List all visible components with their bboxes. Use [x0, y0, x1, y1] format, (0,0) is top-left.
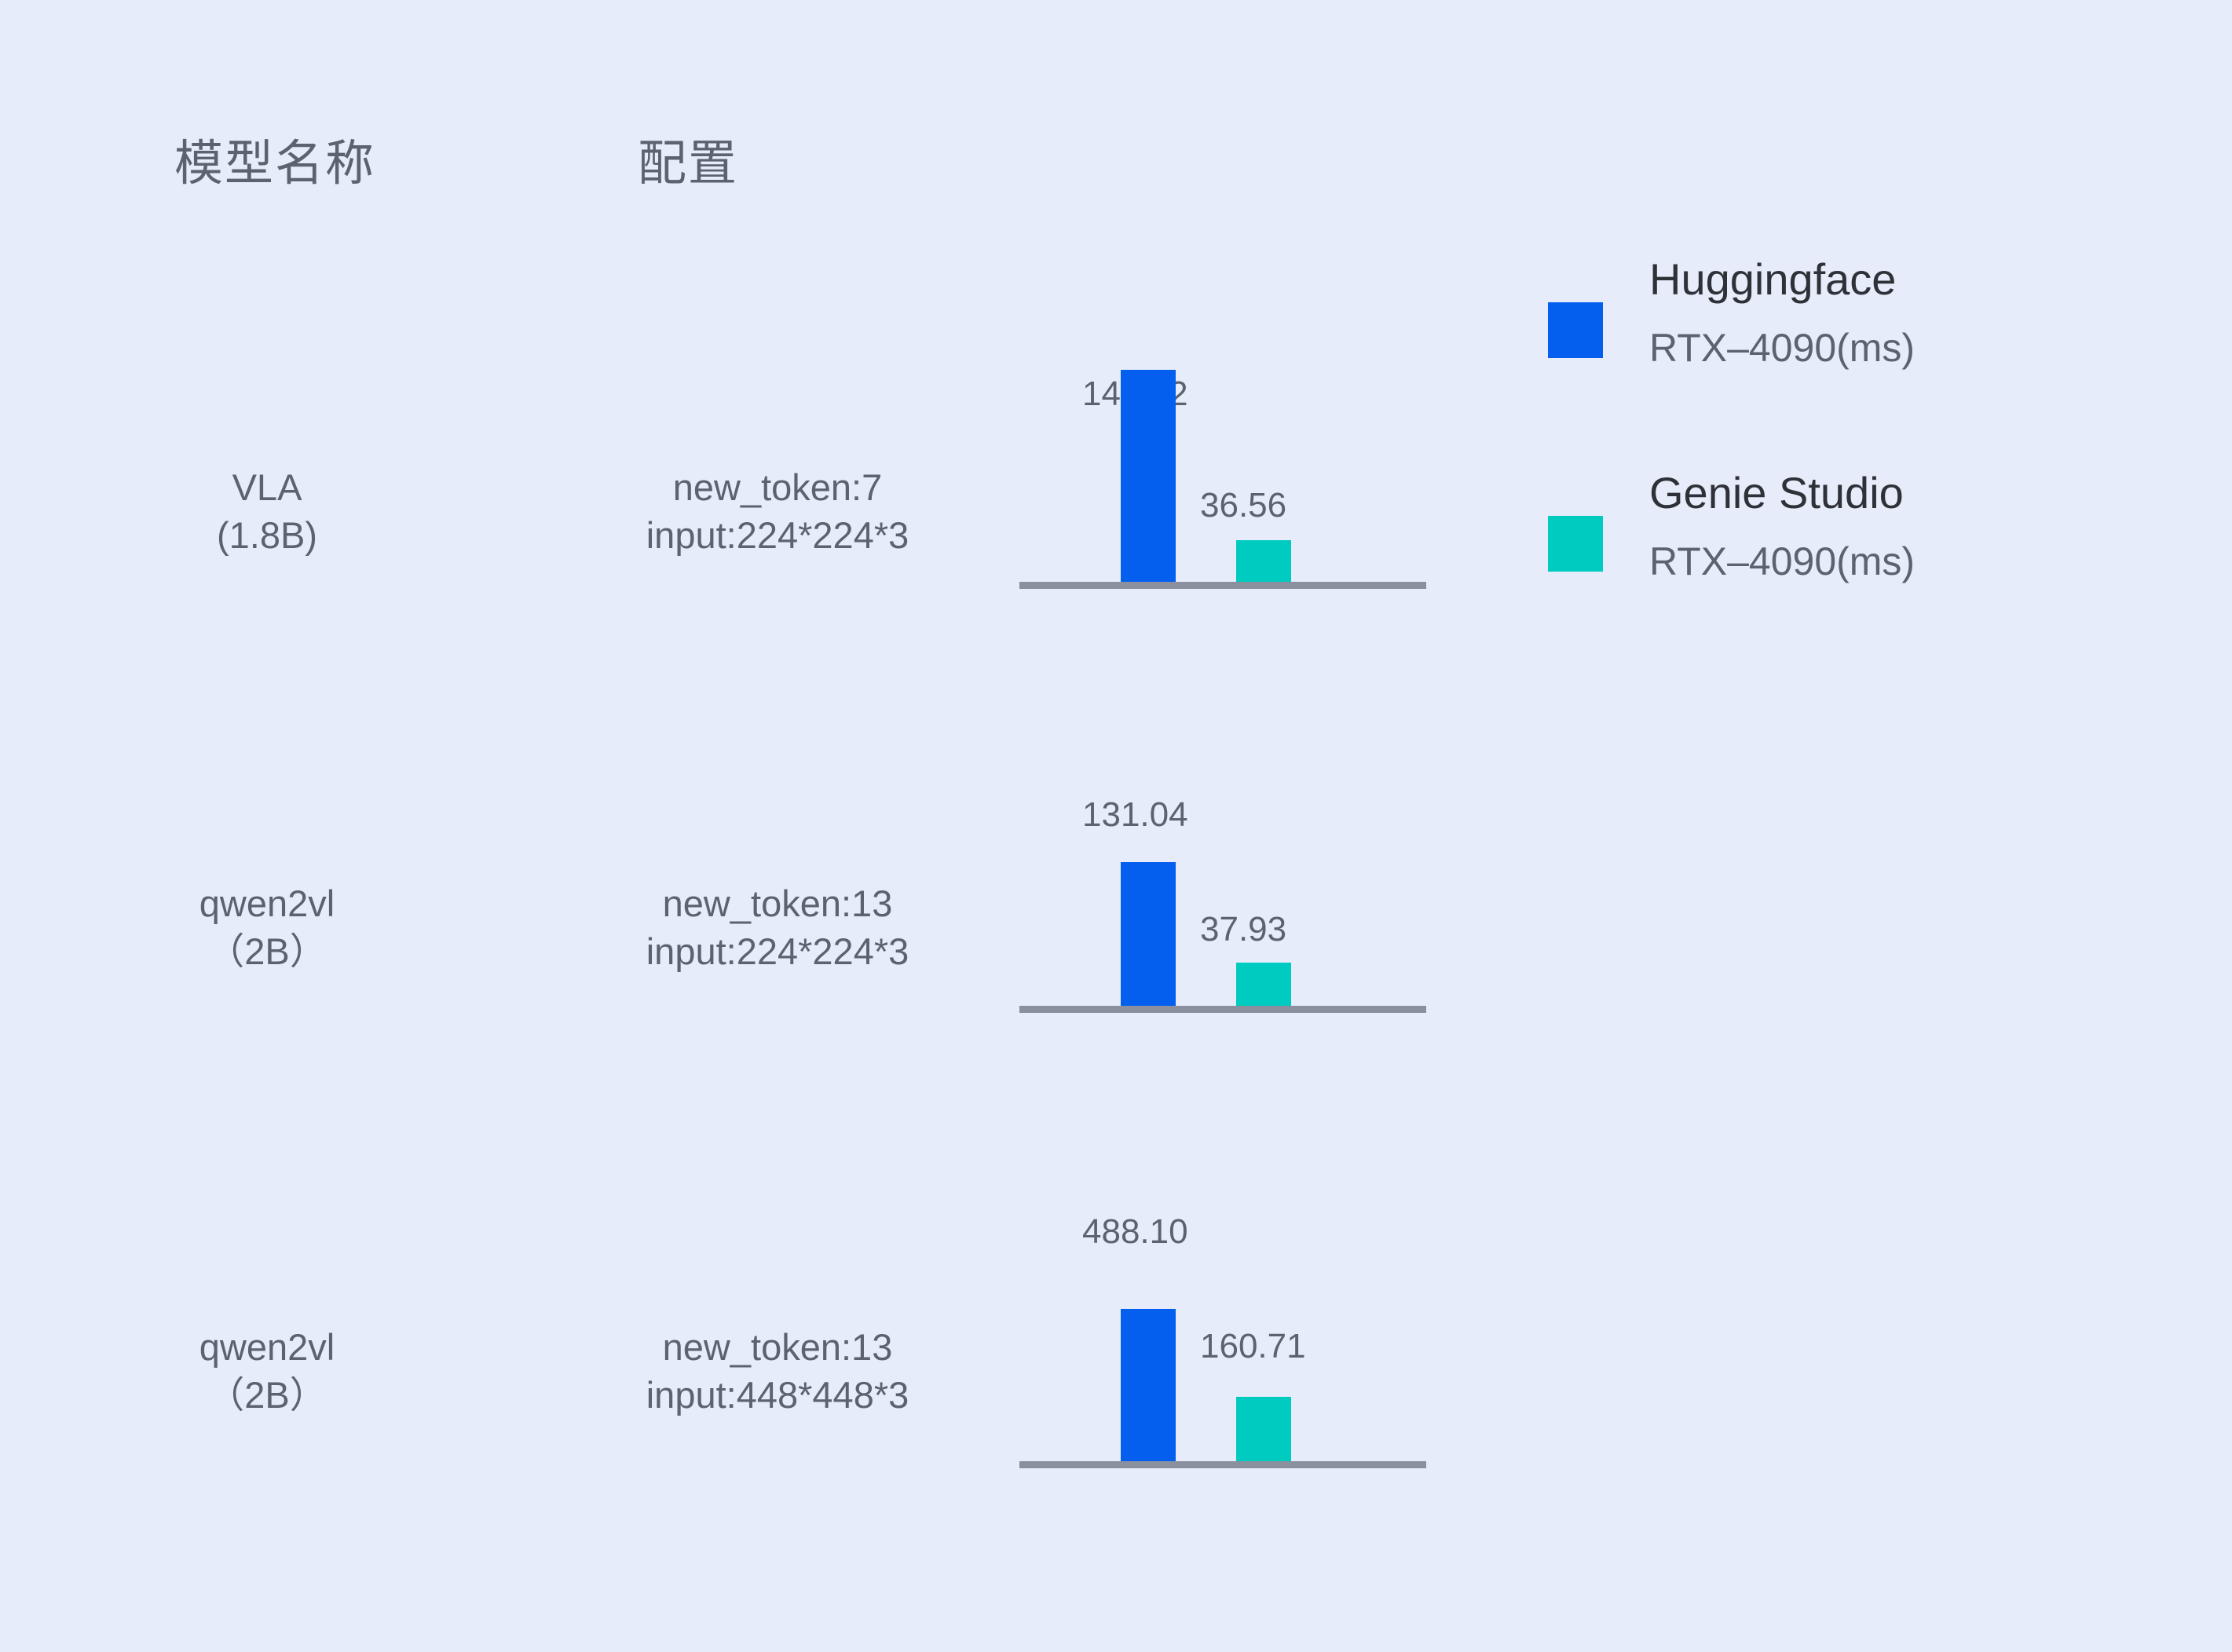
row-model-label-line1: VLA — [141, 463, 393, 511]
row-config-label-line1: new_token:13 — [487, 879, 1068, 927]
row-config-label-line2: input:224*224*3 — [487, 927, 1068, 975]
legend-item-name: Genie Studio — [1649, 471, 1904, 515]
row-config-label: new_token:13 input:224*224*3 — [487, 879, 1068, 975]
bar-value-huggingface: 131.04 — [1082, 798, 1188, 832]
row-config-label-line1: new_token:13 — [487, 1323, 1068, 1371]
bar-value-genie-studio: 36.56 — [1200, 488, 1286, 523]
row-config-label-line2: input:448*448*3 — [487, 1371, 1068, 1419]
row-model-label-line2: (1.8B) — [141, 511, 393, 559]
legend-item-subtitle: RTX–4090(ms) — [1649, 542, 1915, 581]
row-config-label-line1: new_token:7 — [487, 463, 1068, 511]
baseline-axis — [1019, 582, 1426, 589]
row-model-label: qwen2vl （2B） — [141, 1323, 393, 1419]
column-header-model-name: 模型名称 — [174, 140, 375, 188]
row-config-label: new_token:7 input:224*224*3 — [487, 463, 1068, 559]
legend-swatch-icon — [1548, 302, 1603, 358]
row-model-label-line2: （2B） — [141, 1371, 393, 1419]
bar-value-genie-studio: 160.71 — [1200, 1329, 1306, 1364]
baseline-axis — [1019, 1461, 1426, 1468]
bar-panel: 131.04 37.93 — [1019, 683, 1428, 1013]
baseline-axis — [1019, 1006, 1426, 1013]
legend-swatch-icon — [1548, 516, 1603, 572]
bar-huggingface[interactable] — [1121, 862, 1176, 1006]
row-model-label: qwen2vl （2B） — [141, 879, 393, 975]
legend-item-huggingface[interactable]: Huggingface RTX–4090(ms) — [1539, 236, 2089, 385]
row-model-label-line1: qwen2vl — [141, 1323, 393, 1371]
bar-genie-studio[interactable] — [1236, 540, 1291, 582]
bar-genie-studio[interactable] — [1236, 963, 1291, 1006]
bar-value-huggingface: 488.10 — [1082, 1215, 1188, 1249]
bar-huggingface[interactable] — [1121, 1309, 1176, 1468]
bar-value-genie-studio: 37.93 — [1200, 912, 1286, 947]
bar-huggingface[interactable] — [1121, 370, 1176, 582]
legend-item-genie-studio[interactable]: Genie Studio RTX–4090(ms) — [1539, 449, 2089, 598]
bar-panel: 141.92 36.56 — [1019, 259, 1428, 589]
column-header-config: 配置 — [638, 140, 738, 188]
chart-canvas: 模型名称 配置 VLA (1.8B) new_token:7 input:224… — [0, 0, 2232, 1652]
row-model-label-line1: qwen2vl — [141, 879, 393, 927]
chart-row: qwen2vl （2B） new_token:13 input:448*448*… — [0, 1099, 2232, 1476]
legend-item-subtitle: RTX–4090(ms) — [1649, 328, 1915, 367]
bar-panel: 488.10 160.71 — [1019, 1099, 1428, 1468]
row-model-label: VLA (1.8B) — [141, 463, 393, 559]
legend-item-name: Huggingface — [1649, 258, 1896, 302]
row-model-label-line2: （2B） — [141, 927, 393, 975]
row-config-label: new_token:13 input:448*448*3 — [487, 1323, 1068, 1419]
bar-genie-studio[interactable] — [1236, 1397, 1291, 1461]
chart-row: qwen2vl （2B） new_token:13 input:224*224*… — [0, 683, 2232, 1021]
row-config-label-line2: input:224*224*3 — [487, 511, 1068, 559]
